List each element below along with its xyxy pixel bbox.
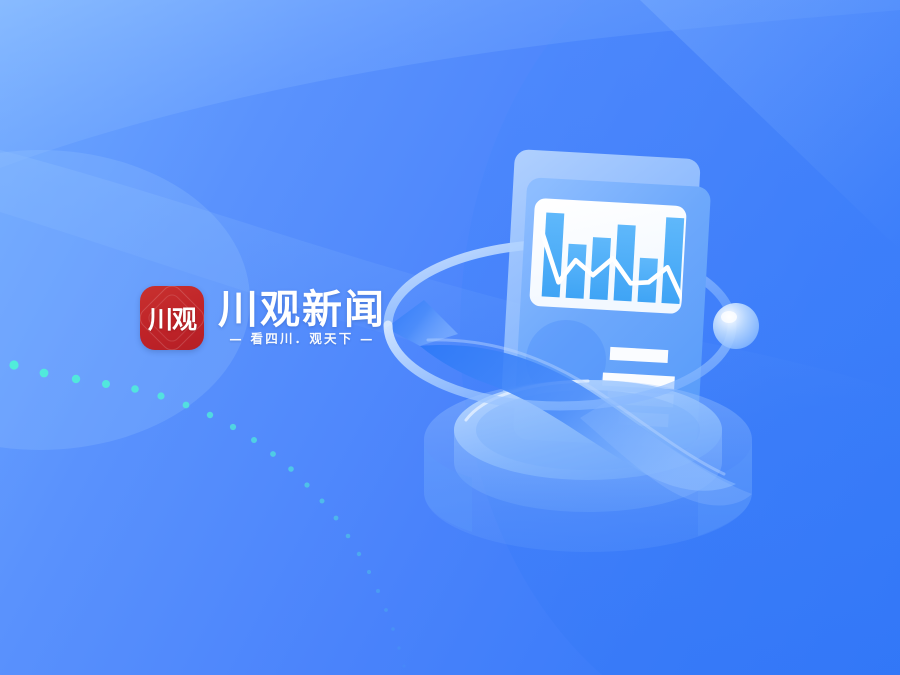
orbit-node-highlight	[721, 311, 737, 323]
logo-title: 川观新闻	[218, 290, 386, 330]
logo-mark-icon: 川观	[140, 286, 204, 350]
splash-screen: 川观 川观新闻 — 看四川．观天下 —	[0, 0, 900, 675]
orbit-node-sphere	[713, 303, 759, 349]
logo-mark-text: 川观	[140, 286, 204, 350]
logo-tagline: — 看四川．观天下 —	[218, 333, 386, 346]
logo-wordmark: 川观新闻 — 看四川．观天下 —	[218, 290, 386, 346]
brand-logo: 川观 川观新闻 — 看四川．观天下 —	[140, 286, 386, 350]
data-report-illustration	[380, 140, 800, 560]
